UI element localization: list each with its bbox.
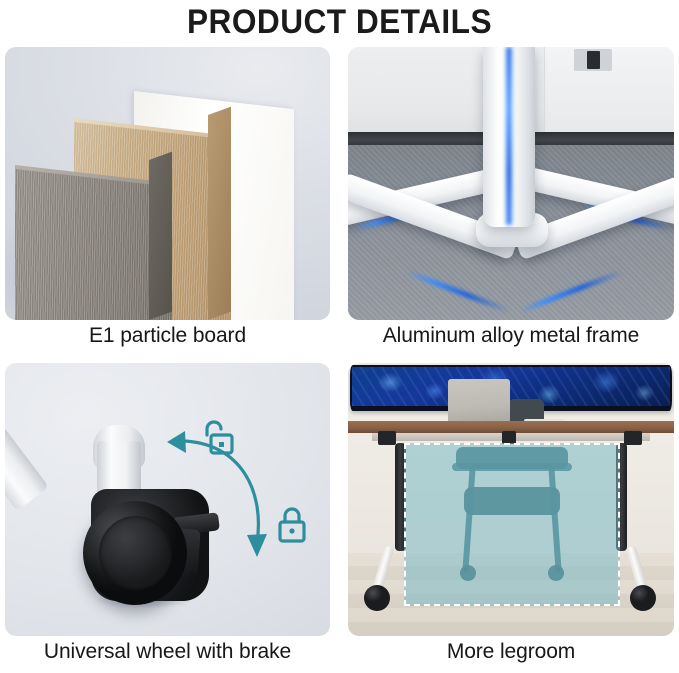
more-legroom-scene [348, 363, 674, 636]
detail-card-particle-board: E1 particle board [5, 47, 330, 320]
details-grid: E1 particle board [5, 47, 674, 667]
aluminum-frame-image [348, 47, 674, 320]
column-blue-glow [506, 47, 512, 225]
desk-bracket-right [624, 431, 642, 445]
product-details-page: PRODUCT DETAILS E1 particle board [0, 0, 679, 673]
caption-more-legroom: More legroom [348, 640, 674, 664]
aluminum-frame-scene [348, 47, 674, 320]
more-legroom-image [348, 363, 674, 636]
caption-particle-board: E1 particle board [5, 324, 330, 348]
desk-caster-left [364, 585, 390, 611]
detail-card-aluminum-frame: Aluminum alloy metal frame [348, 47, 674, 320]
unlock-icon [203, 417, 237, 457]
detail-card-more-legroom: More legroom [348, 363, 674, 636]
lock-icon [275, 503, 309, 545]
leg-upper [5, 367, 49, 511]
desk-bracket-left [378, 431, 396, 445]
laptop-lid [448, 379, 510, 425]
detail-card-universal-wheel: Universal wheel with brake [5, 363, 330, 636]
legroom-highlight-area [404, 443, 620, 606]
caption-aluminum-frame: Aluminum alloy metal frame [348, 324, 674, 348]
oak-board-edge [208, 107, 231, 320]
grey-board-edge [149, 152, 172, 320]
universal-wheel-scene [5, 363, 330, 636]
particle-board-image [5, 47, 330, 320]
universal-wheel-image [5, 363, 330, 636]
page-title: PRODUCT DETAILS [24, 0, 655, 44]
caption-universal-wheel: Universal wheel with brake [5, 640, 330, 664]
particle-board-scene [5, 47, 330, 320]
wall-socket [574, 49, 612, 71]
desk-caster-right [630, 585, 656, 611]
